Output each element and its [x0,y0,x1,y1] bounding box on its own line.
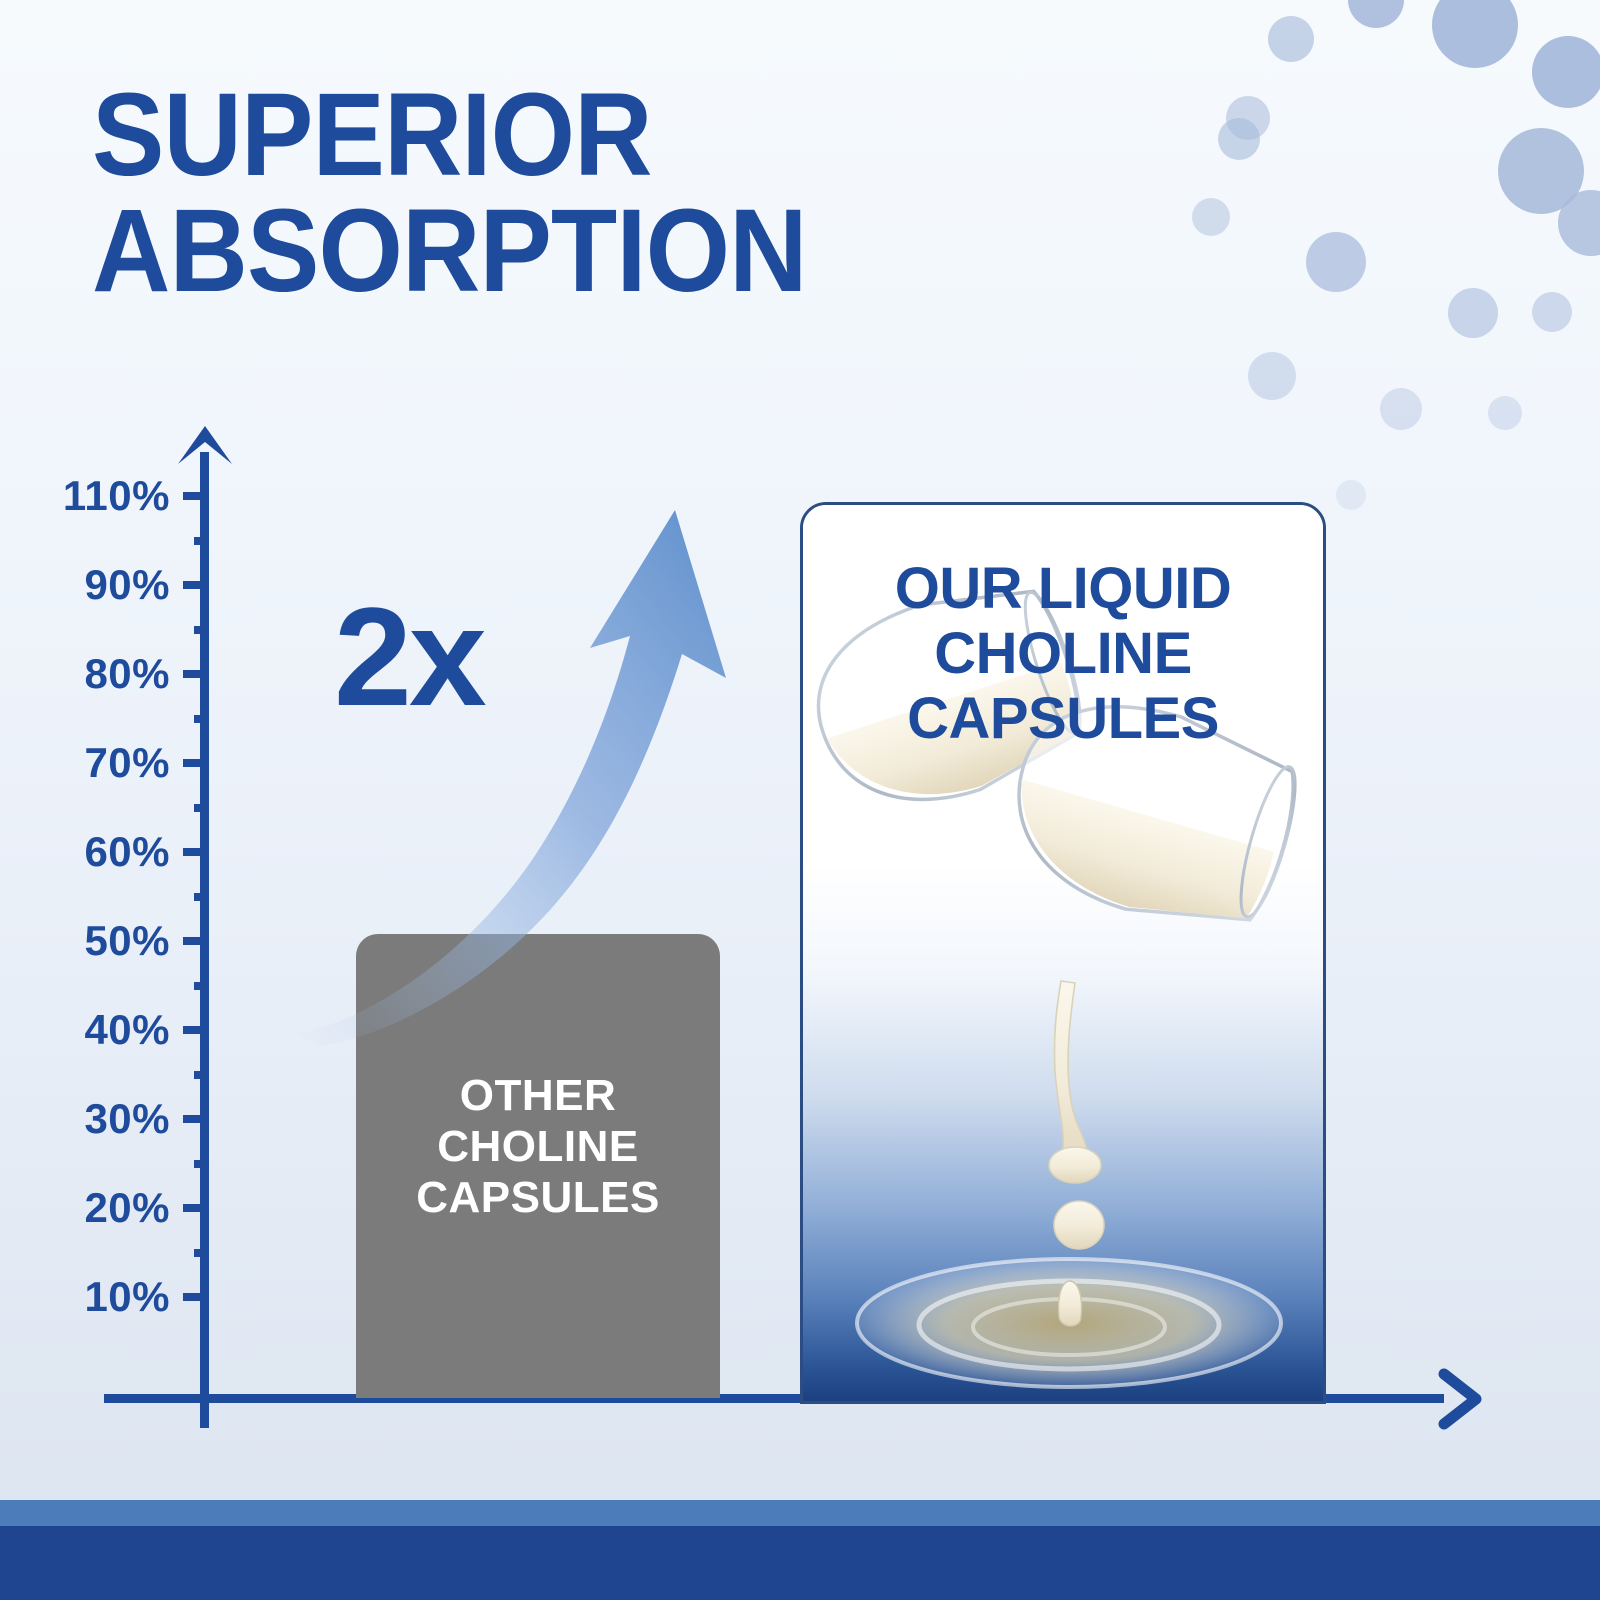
arrow-up-icon [176,424,234,468]
decorative-dot [1268,16,1314,62]
y-axis-tick-label: 20% [0,1184,170,1232]
y-axis-tick-label: 30% [0,1095,170,1143]
y-axis-tick-minor [194,537,209,545]
y-axis-tick-label: 110% [0,472,170,520]
y-axis-tick-label: 80% [0,650,170,698]
decorative-dot [1380,388,1422,430]
y-axis-tick-major [183,937,209,945]
decorative-dot [1348,0,1404,28]
infographic-canvas: SUPERIOR ABSORPTION 110%90%80%70%60%50%4… [0,0,1600,1600]
y-axis-tick-label: 50% [0,917,170,965]
decorative-dot [1558,190,1600,256]
y-axis-tick-major [183,670,209,678]
multiplier-callout: 2x [334,576,484,738]
decorative-dot [1306,232,1366,292]
y-axis-tick-minor [194,1071,209,1079]
decorative-dot [1498,128,1584,214]
y-axis-tick-minor [194,893,209,901]
footer-band-light [0,1500,1600,1526]
y-axis-tick-major [183,1026,209,1034]
product-card: OUR LIQUID CHOLINE CAPSULES [800,502,1326,1404]
y-axis-tick-minor [194,1160,209,1168]
decorative-dot-field [1180,0,1600,560]
y-axis-tick-minor [194,1249,209,1257]
y-axis-tick-label: 90% [0,561,170,609]
y-axis-tick-major [183,1293,209,1301]
y-axis-tick-major [183,492,209,500]
decorative-dot [1488,396,1522,430]
y-axis-tick-minor [194,715,209,723]
y-axis-tick-major [183,848,209,856]
chevron-right-icon [1434,1368,1488,1430]
bar-other-label: OTHER CHOLINE CAPSULES [356,1070,720,1223]
decorative-dot [1248,352,1296,400]
y-axis-tick-major [183,581,209,589]
decorative-dot [1432,0,1518,68]
decorative-dot [1532,292,1572,332]
decorative-dot [1448,288,1498,338]
y-axis-tick-label: 60% [0,828,170,876]
footer-band-dark [0,1526,1600,1600]
y-axis-tick-major [183,1115,209,1123]
bar-other-choline-capsules: OTHER CHOLINE CAPSULES [356,934,720,1398]
y-axis-tick-label: 40% [0,1006,170,1054]
page-title: SUPERIOR ABSORPTION [92,78,938,309]
y-axis-tick-major [183,1204,209,1212]
y-axis-tick-minor [194,626,209,634]
product-card-title: OUR LIQUID CHOLINE CAPSULES [827,557,1299,752]
decorative-dot [1218,118,1260,160]
y-axis-tick-label: 70% [0,739,170,787]
decorative-dot [1192,198,1230,236]
decorative-dot [1336,480,1366,510]
decorative-dot [1532,36,1600,108]
y-axis-tick-minor [194,804,209,812]
y-axis-tick-major [183,759,209,767]
y-axis-tick-minor [194,982,209,990]
y-axis-tick-label: 10% [0,1273,170,1321]
decorative-dot [1226,96,1270,140]
